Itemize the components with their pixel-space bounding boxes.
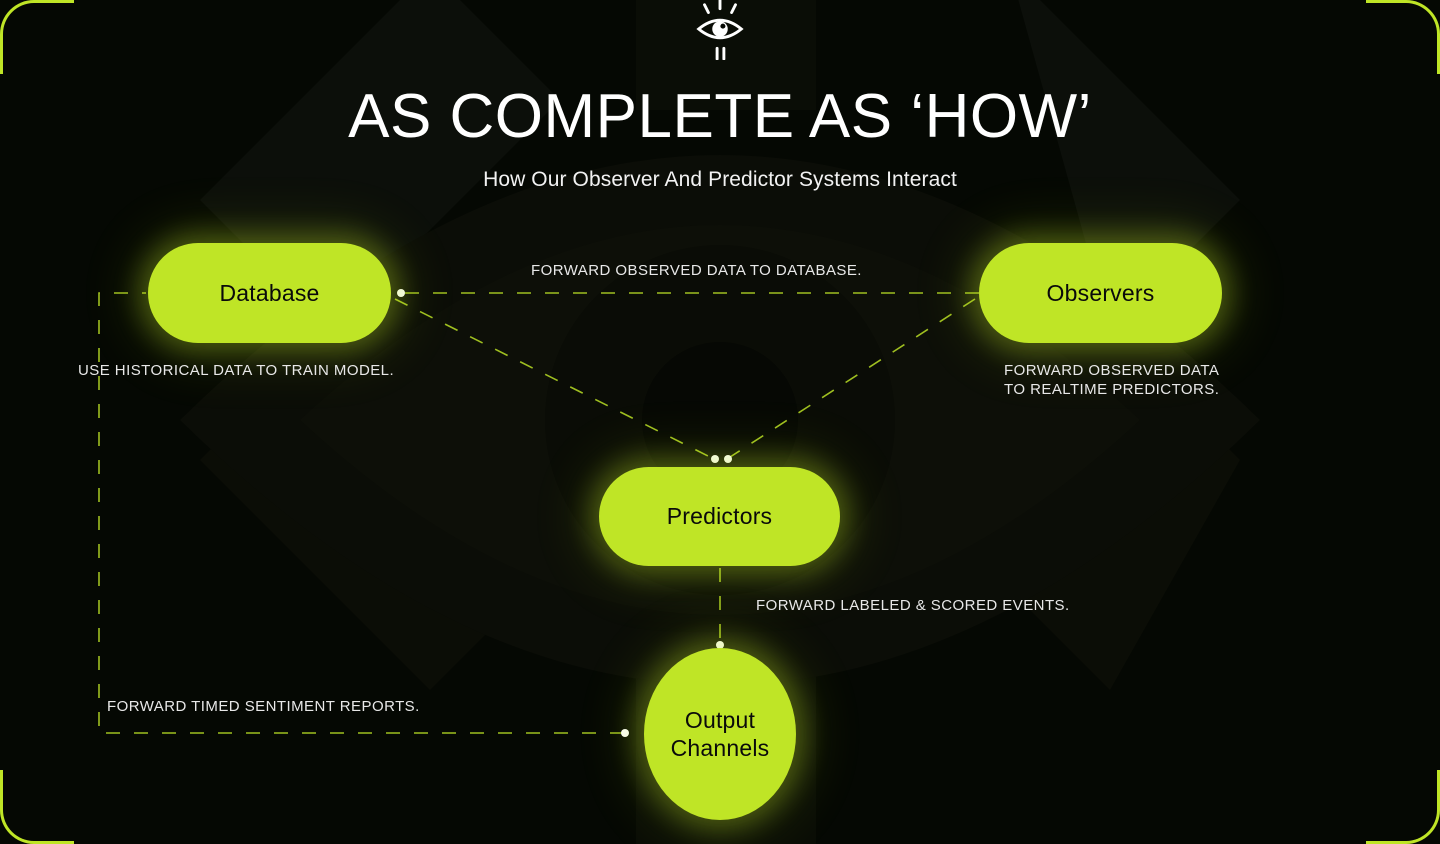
eye-icon: [689, 0, 751, 60]
corner-bracket-top-left: [0, 0, 74, 74]
endpoint-dot-predictors-left: [711, 455, 719, 463]
edge-label-historical-train: USE HISTORICAL DATA TO TRAIN MODEL.: [78, 361, 394, 380]
edge-observers-to-predictors: [727, 299, 975, 459]
edge-label-timed-sentiment: FORWARD TIMED SENTIMENT REPORTS.: [107, 697, 420, 716]
page-subtitle: How Our Observer And Predictor Systems I…: [0, 168, 1440, 192]
node-database-label: Database: [219, 279, 319, 307]
edge-database-to-predictors: [395, 299, 714, 459]
edge-output-to-database: [99, 293, 624, 733]
endpoint-dot-predictors-right: [724, 455, 732, 463]
endpoint-dot-database-right: [397, 289, 405, 297]
giant-eye-watermark: [180, 155, 1260, 685]
diagram-canvas: AS COMPLETE AS ‘HOW’ How Our Observer An…: [0, 0, 1440, 844]
node-predictors[interactable]: Predictors: [599, 467, 840, 566]
node-observers-label: Observers: [1047, 279, 1155, 307]
edge-label-labeled-scored: FORWARD LABELED & SCORED EVENTS.: [756, 596, 1070, 615]
node-output-channels[interactable]: Output Channels: [644, 648, 796, 820]
node-database[interactable]: Database: [148, 243, 391, 343]
edge-label-observed-to-database: FORWARD OBSERVED DATA TO DATABASE.: [531, 261, 862, 280]
node-observers[interactable]: Observers: [979, 243, 1222, 343]
corner-bracket-top-right: [1366, 0, 1440, 74]
node-predictors-label: Predictors: [667, 502, 773, 530]
node-output-channels-label: Output Channels: [671, 706, 770, 762]
corner-bracket-bottom-right: [1366, 770, 1440, 844]
edge-label-observed-to-realtime: FORWARD OBSERVED DATA TO REALTIME PREDIC…: [1004, 361, 1219, 399]
endpoint-dot-output-left: [621, 729, 629, 737]
page-title: AS COMPLETE AS ‘HOW’: [0, 84, 1440, 149]
corner-bracket-bottom-left: [0, 770, 74, 844]
